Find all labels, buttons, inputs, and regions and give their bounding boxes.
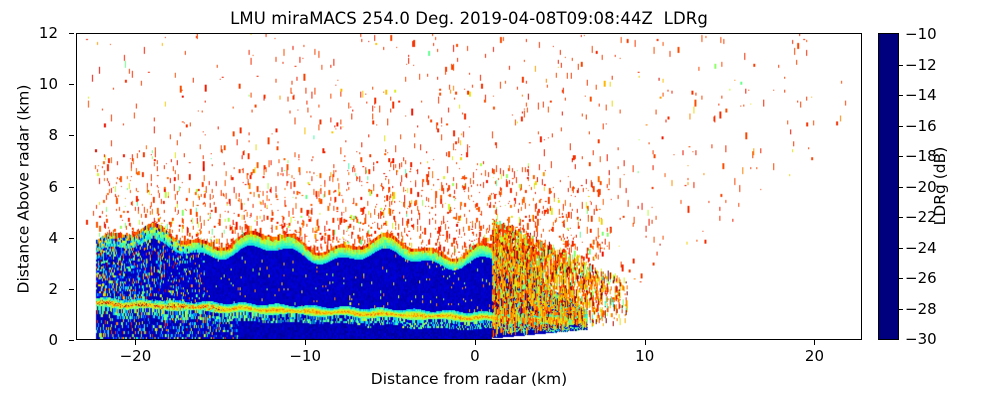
y-tick-label: 6 xyxy=(48,178,58,196)
y-tick-label: 8 xyxy=(48,126,58,144)
colorbar-title: LDRg (dB) xyxy=(931,33,949,340)
radar-reflectivity-heatmap xyxy=(77,34,861,339)
x-tick-mark xyxy=(645,340,646,345)
colorbar-tick-mark xyxy=(898,156,903,157)
x-tick-mark xyxy=(814,340,815,345)
y-tick-mark xyxy=(69,187,74,188)
colorbar-tick-mark xyxy=(898,248,903,249)
y-tick-label: 10 xyxy=(39,75,58,93)
figure-title: LMU miraMACS 254.0 Deg. 2019-04-08T09:08… xyxy=(0,9,938,28)
colorbar-gradient xyxy=(879,34,898,339)
colorbar-tick-mark xyxy=(898,95,903,96)
y-tick-mark xyxy=(69,238,74,239)
y-tick-label: 4 xyxy=(48,229,58,247)
plot-axes xyxy=(76,33,862,340)
x-tick-label: 20 xyxy=(805,347,824,365)
y-tick-label: 2 xyxy=(48,280,58,298)
y-axis-title: Distance Above radar (km) xyxy=(15,36,33,343)
x-tick-label: −20 xyxy=(120,347,152,365)
y-axis-tick-labels: 024681012 xyxy=(0,33,69,340)
y-tick-mark xyxy=(69,340,74,341)
x-tick-mark xyxy=(475,340,476,345)
colorbar: −10−12−14−16−18−20−22−24−26−28−30 xyxy=(878,33,899,340)
radar-rhi-figure: LMU miraMACS 254.0 Deg. 2019-04-08T09:08… xyxy=(0,0,1000,400)
colorbar-tick-mark xyxy=(898,126,903,127)
x-tick-label: 0 xyxy=(470,347,480,365)
colorbar-tick-mark xyxy=(898,65,903,66)
y-tick-mark xyxy=(69,84,74,85)
x-tick-label: −10 xyxy=(289,347,321,365)
y-tick-label: 0 xyxy=(48,331,58,349)
x-tick-mark xyxy=(135,340,136,345)
colorbar-tick-mark xyxy=(898,217,903,218)
y-axis-title-wrapper: Distance Above radar (km) xyxy=(0,0,1,1)
x-axis-tick-labels: −20−1001020 xyxy=(76,346,862,368)
colorbar-tick-mark xyxy=(898,309,903,310)
y-tick-label: 12 xyxy=(39,24,58,42)
y-tick-mark xyxy=(69,289,74,290)
x-tick-mark xyxy=(305,340,306,345)
x-tick-label: 10 xyxy=(635,347,654,365)
y-tick-mark xyxy=(69,135,74,136)
x-axis-title: Distance from radar (km) xyxy=(76,370,862,388)
y-tick-mark xyxy=(69,33,74,34)
colorbar-tick-mark xyxy=(898,187,903,188)
colorbar-tick-mark xyxy=(898,278,903,279)
